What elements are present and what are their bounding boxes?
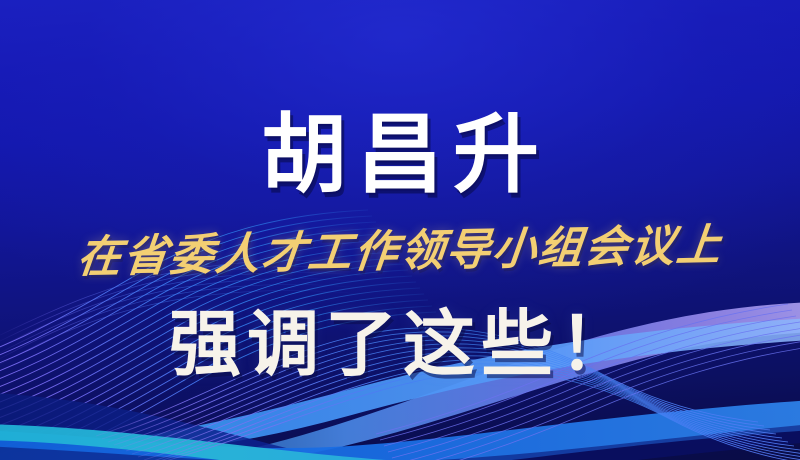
emphasis-line: 强调了这些！: [0, 308, 800, 380]
poster-canvas: 胡昌升 在省委人才工作领导小组会议上 强调了这些！: [0, 0, 800, 460]
page-title: 胡昌升: [0, 112, 800, 198]
subtitle-calligraphy: 在省委人才工作领导小组会议上: [0, 220, 800, 284]
poster-text-content: 胡昌升 在省委人才工作领导小组会议上 强调了这些！: [0, 0, 800, 460]
